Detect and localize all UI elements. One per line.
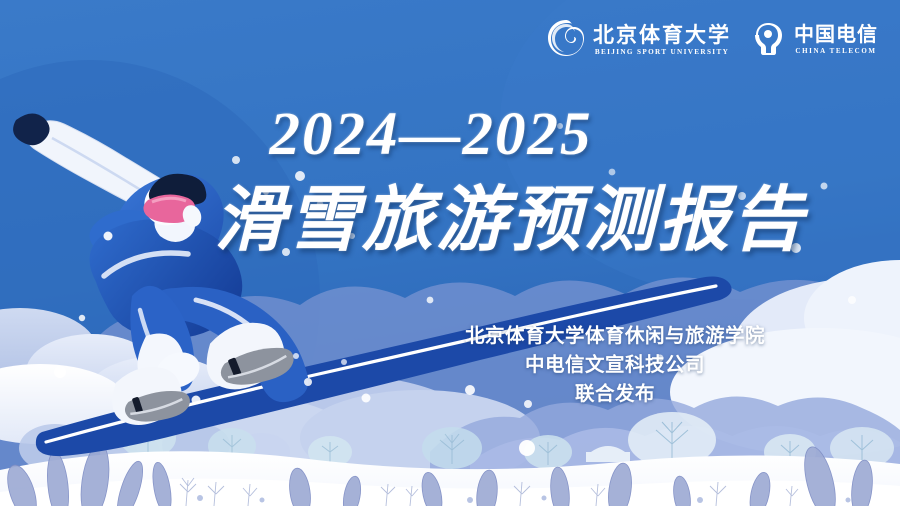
china-telecom-name-en: CHINA TELECOM (795, 48, 876, 56)
bsu-name-en: BEIJING SPORT UNIVERSITY (595, 49, 729, 57)
publisher-credits: 北京体育大学体育休闲与旅游学院 中电信文宣科技公司 联合发布 (440, 322, 790, 409)
page-title: 滑雪旅游预测报告 (200, 186, 820, 257)
ski-report-poster: 北京体育大学 BEIJING SPORT UNIVERSITY 中国电信 CHI… (0, 0, 900, 506)
publisher-line-1: 北京体育大学体育休闲与旅游学院 (440, 322, 790, 351)
swirl-vortex-icon (546, 18, 586, 63)
china-telecom-mark-icon (749, 20, 787, 61)
logo-beijing-sport-university: 北京体育大学 BEIJING SPORT UNIVERSITY (546, 18, 731, 63)
china-telecom-name-cn: 中国电信 (794, 25, 878, 46)
snowflake-marker (519, 440, 535, 456)
publisher-line-2: 中电信文宣科技公司 (440, 351, 790, 380)
logo-china-telecom: 中国电信 CHINA TELECOM (749, 20, 878, 61)
title-year: 2024—2025 (216, 104, 646, 165)
publisher-line-3: 联合发布 (440, 380, 790, 409)
bsu-name-cn: 北京体育大学 (593, 24, 731, 46)
logo-bar: 北京体育大学 BEIJING SPORT UNIVERSITY 中国电信 CHI… (546, 18, 878, 63)
